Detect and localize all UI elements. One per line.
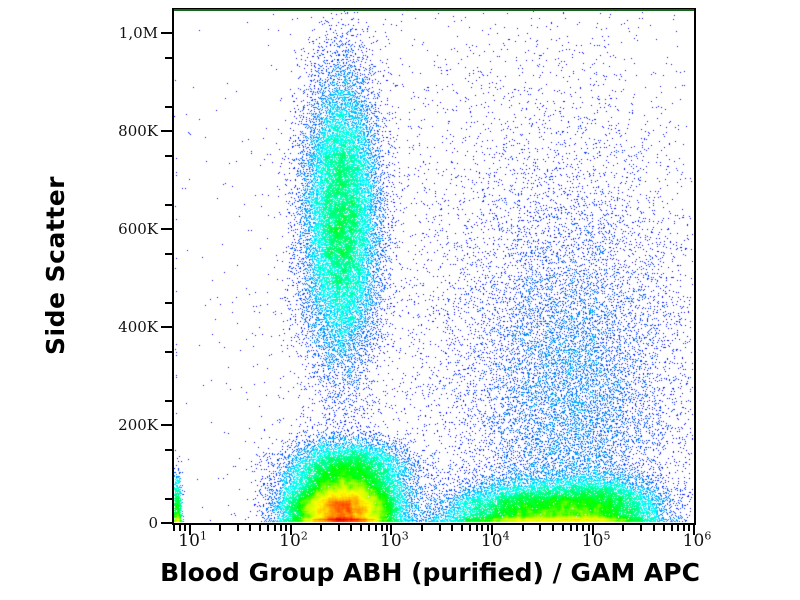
y-tick-label: 400K bbox=[118, 318, 158, 336]
saturation-line bbox=[174, 9, 694, 11]
x-tick-minor bbox=[285, 524, 287, 531]
x-tick-label: 101 bbox=[178, 531, 207, 551]
x-tick-minor bbox=[320, 524, 322, 531]
x-tick-label: 103 bbox=[380, 531, 409, 551]
flow-cytometry-plot: Side Scatter 1,0M800K600K400K200K0 10110… bbox=[0, 0, 800, 600]
x-tick-minor bbox=[237, 524, 239, 531]
x-tick-minor bbox=[487, 524, 489, 531]
x-tick-minor bbox=[360, 524, 362, 531]
y-tick-minor bbox=[165, 400, 172, 402]
y-axis-title: Side Scatter bbox=[0, 0, 110, 530]
x-tick-minor bbox=[562, 524, 564, 531]
y-tick-minor bbox=[165, 204, 172, 206]
x-tick-minor bbox=[219, 524, 221, 531]
x-tick-minor bbox=[671, 524, 673, 531]
y-axis-title-text: Side Scatter bbox=[41, 175, 70, 354]
x-tick-minor bbox=[653, 524, 655, 531]
plot-area[interactable] bbox=[172, 8, 696, 525]
y-tick-major bbox=[161, 130, 172, 132]
x-tick-minor bbox=[259, 524, 261, 531]
x-tick-minor bbox=[350, 524, 352, 531]
density-scatter-canvas bbox=[174, 9, 694, 523]
x-tick-minor bbox=[386, 524, 388, 531]
x-tick-label: 106 bbox=[683, 531, 712, 551]
x-tick-minor bbox=[683, 524, 685, 531]
y-tick-minor bbox=[165, 106, 172, 108]
y-tick-minor bbox=[165, 351, 172, 353]
x-tick-minor bbox=[476, 524, 478, 531]
x-tick-minor bbox=[576, 524, 578, 531]
x-tick-minor bbox=[663, 524, 665, 531]
x-tick-minor bbox=[338, 524, 340, 531]
y-tick-major bbox=[161, 424, 172, 426]
y-tick-minor bbox=[165, 155, 172, 157]
x-tick-minor bbox=[688, 524, 690, 531]
y-tick-major bbox=[161, 326, 172, 328]
x-tick-minor bbox=[622, 524, 624, 531]
x-tick-minor bbox=[368, 524, 370, 531]
x-tick-minor bbox=[539, 524, 541, 531]
x-tick-minor bbox=[179, 524, 181, 531]
x-tick-label: 102 bbox=[279, 531, 308, 551]
y-tick-major bbox=[161, 522, 172, 524]
x-tick-minor bbox=[267, 524, 269, 531]
x-tick-minor bbox=[421, 524, 423, 531]
x-tick-minor bbox=[381, 524, 383, 531]
x-tick-minor bbox=[249, 524, 251, 531]
x-tick-minor bbox=[274, 524, 276, 531]
y-tick-major bbox=[161, 228, 172, 230]
x-tick-label: 104 bbox=[481, 531, 510, 551]
y-tick-minor bbox=[165, 253, 172, 255]
y-tick-label: 600K bbox=[118, 220, 158, 238]
x-tick-minor bbox=[570, 524, 572, 531]
y-tick-minor bbox=[165, 449, 172, 451]
y-tick-major bbox=[161, 32, 172, 34]
x-tick-minor bbox=[522, 524, 524, 531]
x-tick-minor bbox=[451, 524, 453, 531]
x-tick-minor bbox=[375, 524, 377, 531]
x-tick-minor bbox=[588, 524, 590, 531]
x-tick-minor bbox=[552, 524, 554, 531]
y-tick-label: 0 bbox=[148, 514, 158, 532]
x-tick-minor bbox=[481, 524, 483, 531]
x-tick-minor bbox=[582, 524, 584, 531]
x-tick-minor bbox=[280, 524, 282, 531]
y-tick-minor bbox=[165, 57, 172, 59]
y-tick-minor bbox=[165, 498, 172, 500]
x-tick-minor bbox=[461, 524, 463, 531]
x-tick-minor bbox=[173, 524, 175, 531]
x-tick-minor bbox=[439, 524, 441, 531]
y-tick-label: 1,0M bbox=[119, 24, 158, 42]
y-tick-label: 800K bbox=[118, 122, 158, 140]
x-tick-minor bbox=[677, 524, 679, 531]
x-tick-minor bbox=[469, 524, 471, 531]
x-tick-minor bbox=[184, 524, 186, 531]
y-tick-minor bbox=[165, 302, 172, 304]
y-tick-label: 200K bbox=[118, 416, 158, 434]
x-axis-title: Blood Group ABH (purified) / GAM APC bbox=[110, 558, 750, 587]
x-tick-minor bbox=[640, 524, 642, 531]
x-tick-label: 105 bbox=[582, 531, 611, 551]
